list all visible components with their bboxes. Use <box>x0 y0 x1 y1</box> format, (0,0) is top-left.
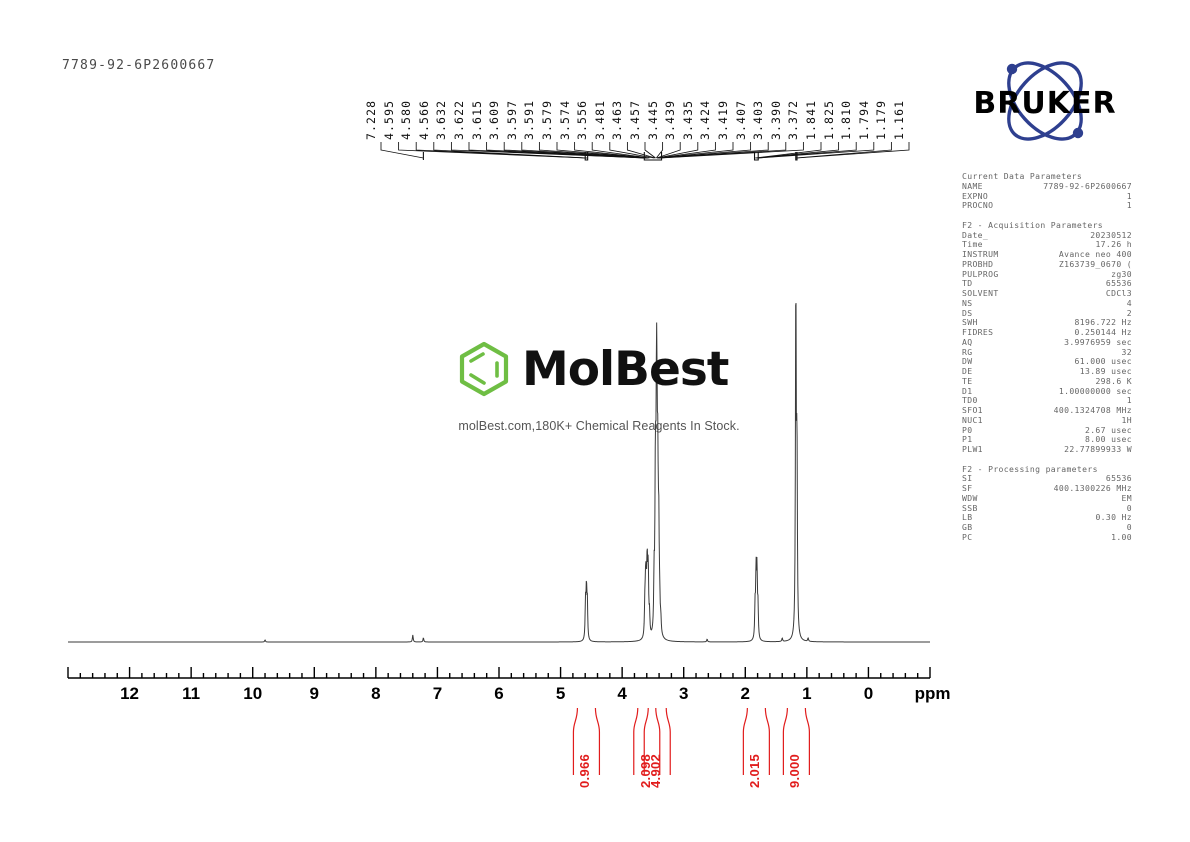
param-value: 7789-92-6P2600667 <box>1043 182 1132 192</box>
param-row-PC: PC1.00 <box>962 533 1132 543</box>
param-value: 1.00000000 sec <box>1059 387 1132 397</box>
bruker-logo: BRUKER <box>960 55 1130 147</box>
param-row-GB: GB0 <box>962 523 1132 533</box>
param-row-D1: D11.00000000 sec <box>962 387 1132 397</box>
param-row-SOLVENT: SOLVENTCDCl3 <box>962 289 1132 299</box>
integral-value-9.000: 9.000 <box>787 754 802 788</box>
param-value: 400.1300226 MHz <box>1054 484 1132 494</box>
param-row-LB: LB0.30 Hz <box>962 513 1132 523</box>
param-value: 1.00 <box>1111 533 1132 543</box>
acquisition-parameter-block: Current Data ParametersNAME7789-92-6P260… <box>962 172 1132 543</box>
bruker-wordmark: BRUKER <box>973 86 1116 121</box>
param-row-SFO1: SFO1400.1324708 MHz <box>962 406 1132 416</box>
integral-value-0.966: 0.966 <box>577 754 592 788</box>
param-value: 400.1324708 MHz <box>1054 406 1132 416</box>
hexagon-molecule-icon <box>455 340 513 398</box>
molbest-tagline: molBest.com,180K+ Chemical Reagents In S… <box>449 419 749 433</box>
orbit-dot-icon <box>1073 128 1083 138</box>
param-value: 1 <box>1127 201 1132 211</box>
integral-value-4.902: 4.902 <box>648 754 663 788</box>
molbest-wordmark: MolBest <box>522 346 728 393</box>
param-key: PROCNO <box>962 201 993 211</box>
nmr-spectrum-page: 7789-92-6P2600667 7.2284.5954.5804.5663.… <box>0 0 1190 842</box>
param-value: 22.77899933 W <box>1064 445 1132 455</box>
orbit-dot-icon <box>1007 64 1017 74</box>
integral-value-2.015: 2.015 <box>747 754 762 788</box>
param-key: PLW1 <box>962 445 983 455</box>
param-row-NS: NS4 <box>962 299 1132 309</box>
param-key: PC <box>962 533 972 543</box>
param-row-AQ: AQ3.9976959 sec <box>962 338 1132 348</box>
param-row-PROCNO: PROCNO1 <box>962 201 1132 211</box>
param-row-PLW1: PLW122.77899933 W <box>962 445 1132 455</box>
param-row-SF: SF400.1300226 MHz <box>962 484 1132 494</box>
molbest-watermark: MolBest molBest.com,180K+ Chemical Reage… <box>455 340 755 433</box>
param-row-WDW: WDWEM <box>962 494 1132 504</box>
